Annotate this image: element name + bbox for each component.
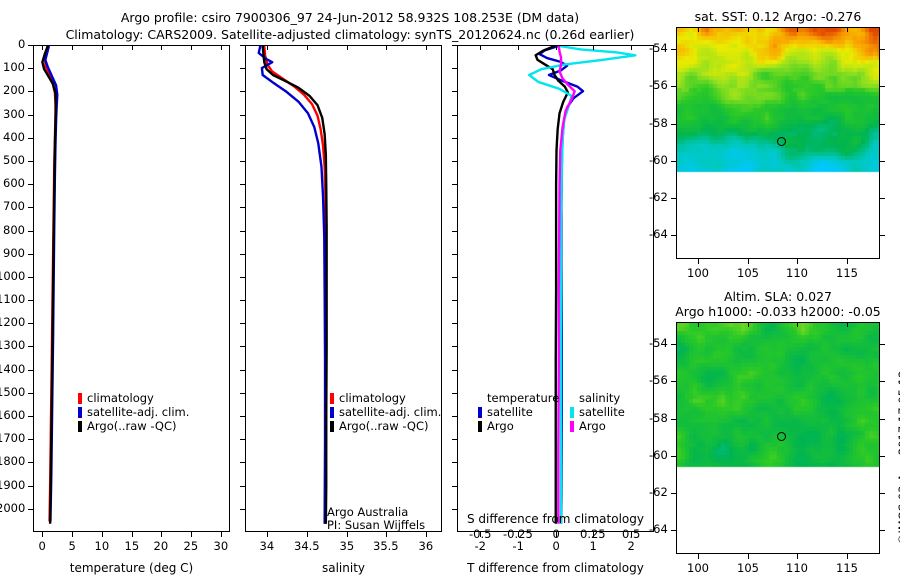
tick-mark xyxy=(191,532,192,537)
xaxis-tick-label-bottom: 0 xyxy=(553,539,560,553)
tick-mark xyxy=(240,393,245,394)
tick-mark xyxy=(307,45,308,50)
tick-mark xyxy=(240,161,245,162)
tick-mark xyxy=(797,322,798,327)
xaxis-tick-label: 10 xyxy=(95,539,110,553)
tick-mark xyxy=(240,115,245,116)
tick-mark xyxy=(240,462,245,463)
tick-mark xyxy=(28,393,33,394)
tick-mark xyxy=(797,259,798,264)
tick-mark xyxy=(847,27,848,32)
tick-mark xyxy=(221,45,222,50)
profile-line xyxy=(536,46,568,524)
tick-mark xyxy=(671,161,676,162)
tick-mark xyxy=(240,439,245,440)
map-xaxis-tick-label: 115 xyxy=(836,561,858,575)
tick-mark xyxy=(671,419,676,420)
tick-mark xyxy=(452,486,457,487)
temperature-legend: climatology satellite-adj. clim. Argo(..… xyxy=(78,391,189,433)
map-yaxis-tick-label: -62 xyxy=(649,190,668,204)
yaxis-tick-label: 1600 xyxy=(0,408,25,422)
xaxis-tick-label-bottom: -1 xyxy=(513,539,524,553)
tick-mark xyxy=(240,416,245,417)
map-sla-panel xyxy=(676,322,880,554)
legend-swatch-temp-argo xyxy=(478,421,482,432)
tick-mark xyxy=(240,323,245,324)
map-yaxis-tick-label: -62 xyxy=(649,485,668,499)
tick-mark xyxy=(880,161,885,162)
tick-mark xyxy=(28,68,33,69)
legend-item: Argo xyxy=(478,419,559,433)
xaxis-tick-label: 5 xyxy=(69,539,76,553)
tick-mark xyxy=(880,493,885,494)
map-sst-title: sat. SST: 0.12 Argo: -0.276 xyxy=(676,9,880,24)
yaxis-tick-label: 200 xyxy=(3,83,25,97)
tick-mark xyxy=(240,277,245,278)
tick-mark xyxy=(452,254,457,255)
tick-mark xyxy=(102,532,103,537)
legend-label: Argo(..raw -QC) xyxy=(339,419,429,433)
xaxis-tick-label-bottom: -2 xyxy=(475,539,486,553)
legend-label: Argo xyxy=(579,419,606,433)
tick-mark xyxy=(880,456,885,457)
yaxis-tick-label: 100 xyxy=(3,60,25,74)
tick-mark xyxy=(671,493,676,494)
legend-item: satellite-adj. clim. xyxy=(330,405,441,419)
tick-mark xyxy=(671,49,676,50)
legend-swatch-temp-satellite xyxy=(478,407,482,418)
tick-mark xyxy=(671,381,676,382)
legend-header: salinity xyxy=(570,391,625,405)
xaxis-tick-label: 25 xyxy=(184,539,199,553)
tick-mark xyxy=(480,45,481,50)
yaxis-tick-label: 1400 xyxy=(0,362,25,376)
yaxis-tick-label: 800 xyxy=(3,223,25,237)
legend-item: satellite xyxy=(478,405,559,419)
tick-mark xyxy=(240,486,245,487)
difference-legend-salinity: salinity satellite Argo xyxy=(570,391,625,433)
tick-mark xyxy=(452,346,457,347)
map-yaxis-tick-label: -56 xyxy=(649,373,668,387)
yaxis-tick-label: 1100 xyxy=(0,292,25,306)
xaxis-tick-label-top: 0.5 xyxy=(622,527,640,541)
tick-mark xyxy=(748,322,749,327)
legend-swatch-satellite-adj xyxy=(78,407,82,418)
legend-label: climatology xyxy=(339,391,406,405)
tick-mark xyxy=(880,344,885,345)
tick-mark xyxy=(748,554,749,559)
tick-mark xyxy=(161,532,162,537)
tick-mark xyxy=(426,45,427,50)
tick-mark xyxy=(847,322,848,327)
tick-mark xyxy=(240,91,245,92)
legend-label: Argo xyxy=(487,419,514,433)
tick-mark xyxy=(698,554,699,559)
tick-mark xyxy=(880,419,885,420)
tick-mark xyxy=(452,231,457,232)
tick-mark xyxy=(671,235,676,236)
tick-mark xyxy=(698,259,699,264)
figure-root: Argo profile: csiro 7900306_97 24-Jun-20… xyxy=(0,0,900,580)
legend-header-label: temperature xyxy=(487,391,559,405)
yaxis-tick-label: 1700 xyxy=(0,431,25,445)
tick-mark xyxy=(28,277,33,278)
salinity-profile-plot xyxy=(246,46,442,532)
legend-swatch-climatology xyxy=(78,393,82,404)
difference-panel xyxy=(457,45,654,532)
tick-mark xyxy=(671,530,676,531)
xaxis-tick-label-top: -0.5 xyxy=(469,527,491,541)
tick-mark xyxy=(240,254,245,255)
tick-mark xyxy=(102,45,103,50)
legend-label: climatology xyxy=(87,391,154,405)
tick-mark xyxy=(698,322,699,327)
map-yaxis-tick-label: -58 xyxy=(649,116,668,130)
tick-mark xyxy=(28,254,33,255)
map-sla-profile-marker xyxy=(777,432,786,441)
yaxis-tick-label: 1500 xyxy=(0,385,25,399)
salinity-legend: climatology satellite-adj. clim. Argo(..… xyxy=(330,391,441,433)
tick-mark xyxy=(880,198,885,199)
tick-mark xyxy=(240,138,245,139)
legend-label: satellite xyxy=(487,405,533,419)
xaxis-tick-label: 15 xyxy=(125,539,140,553)
tick-mark xyxy=(28,439,33,440)
tick-mark xyxy=(452,184,457,185)
xaxis-tick-label: 34.5 xyxy=(294,539,320,553)
temperature-xaxis-label: temperature (deg C) xyxy=(33,561,230,575)
tick-mark xyxy=(72,532,73,537)
xaxis-tick-label: 35.5 xyxy=(373,539,399,553)
tick-mark xyxy=(452,416,457,417)
difference-profile-plot xyxy=(458,46,654,532)
legend-header-label: salinity xyxy=(579,391,620,405)
yaxis-tick-label: 1900 xyxy=(0,478,25,492)
yaxis-tick-label: 900 xyxy=(3,246,25,260)
tick-mark xyxy=(631,45,632,50)
map-yaxis-tick-label: -60 xyxy=(649,448,668,462)
yaxis-tick-label: 300 xyxy=(3,107,25,121)
legend-item: Argo(..raw -QC) xyxy=(78,419,189,433)
tick-mark xyxy=(671,86,676,87)
tick-mark xyxy=(880,49,885,50)
tick-mark xyxy=(452,45,457,46)
xaxis-tick-label-top: -0.25 xyxy=(503,527,533,541)
legend-item: satellite-adj. clim. xyxy=(78,405,189,419)
tick-mark xyxy=(880,381,885,382)
tick-mark xyxy=(28,346,33,347)
tick-mark xyxy=(240,370,245,371)
tick-mark xyxy=(28,138,33,139)
xaxis-tick-label: 35 xyxy=(340,539,355,553)
legend-swatch-sal-satellite xyxy=(570,407,574,418)
map-yaxis-tick-label: -60 xyxy=(649,153,668,167)
tick-mark xyxy=(671,198,676,199)
tick-mark xyxy=(452,68,457,69)
map-yaxis-tick-label: -54 xyxy=(649,336,668,350)
yaxis-tick-label: 1000 xyxy=(0,269,25,283)
tick-mark xyxy=(347,532,348,537)
tick-mark xyxy=(452,300,457,301)
yaxis-tick-label: 1200 xyxy=(0,315,25,329)
credit-pi: PI: Susan Wijffels xyxy=(327,518,425,532)
legend-label: satellite-adj. clim. xyxy=(339,405,441,419)
legend-header: temperature xyxy=(478,391,559,405)
map-sla-title-line2: Argo h1000: -0.033 h2000: -0.05 xyxy=(660,304,896,319)
tick-mark xyxy=(240,346,245,347)
tick-mark xyxy=(847,554,848,559)
tick-mark xyxy=(880,235,885,236)
map-xaxis-tick-label: 110 xyxy=(786,266,808,280)
legend-label: Argo(..raw -QC) xyxy=(87,419,177,433)
tick-mark xyxy=(28,115,33,116)
tick-mark xyxy=(880,124,885,125)
tick-mark xyxy=(28,462,33,463)
xaxis-tick-label-bottom: 1 xyxy=(590,539,597,553)
map-xaxis-tick-label: 100 xyxy=(687,266,709,280)
tick-mark xyxy=(28,161,33,162)
credit-organisation: Argo Australia xyxy=(327,505,408,519)
profile-line xyxy=(529,46,635,524)
tick-mark xyxy=(28,486,33,487)
tick-mark xyxy=(748,27,749,32)
tick-mark xyxy=(518,45,519,50)
legend-item: climatology xyxy=(330,391,441,405)
tick-mark xyxy=(240,68,245,69)
map-xaxis-tick-label: 100 xyxy=(687,561,709,575)
map-sla-title-line1: Altim. SLA: 0.027 xyxy=(676,289,880,304)
profile-line xyxy=(264,46,326,524)
difference-bottom-xaxis-label: T difference from climatology xyxy=(452,561,659,575)
tick-mark xyxy=(28,91,33,92)
tick-mark xyxy=(42,532,43,537)
yaxis-tick-label: 1800 xyxy=(0,454,25,468)
tick-mark xyxy=(671,344,676,345)
tick-mark xyxy=(847,259,848,264)
tick-mark xyxy=(240,207,245,208)
tick-mark xyxy=(347,45,348,50)
tick-mark xyxy=(452,393,457,394)
legend-swatch-sal-argo xyxy=(570,421,574,432)
yaxis-tick-label: 2000 xyxy=(0,501,25,515)
tick-mark xyxy=(386,45,387,50)
xaxis-tick-label-bottom: 2 xyxy=(628,539,635,553)
yaxis-tick-label: 700 xyxy=(3,199,25,213)
tick-mark xyxy=(386,532,387,537)
legend-swatch-satellite-adj xyxy=(330,407,334,418)
yaxis-tick-label: 600 xyxy=(3,176,25,190)
tick-mark xyxy=(28,323,33,324)
tick-mark xyxy=(240,45,245,46)
salinity-xaxis-label: salinity xyxy=(245,561,442,575)
tick-mark xyxy=(452,91,457,92)
tick-mark xyxy=(452,509,457,510)
tick-mark xyxy=(240,231,245,232)
tick-mark xyxy=(240,509,245,510)
figure-title-line2: Climatology: CARS2009. Satellite-adjuste… xyxy=(0,27,700,42)
legend-swatch-climatology xyxy=(330,393,334,404)
tick-mark xyxy=(28,207,33,208)
map-yaxis-tick-label: -64 xyxy=(649,522,668,536)
tick-mark xyxy=(307,532,308,537)
salinity-panel xyxy=(245,45,442,532)
xaxis-tick-label: 36 xyxy=(419,539,434,553)
xaxis-tick-label: 0 xyxy=(39,539,46,553)
legend-item: satellite xyxy=(570,405,625,419)
map-xaxis-tick-label: 105 xyxy=(737,266,759,280)
difference-legend-temperature: temperature satellite Argo xyxy=(478,391,559,433)
map-xaxis-tick-label: 115 xyxy=(836,266,858,280)
xaxis-tick-label: 30 xyxy=(214,539,229,553)
tick-mark xyxy=(797,554,798,559)
tick-mark xyxy=(671,124,676,125)
tick-mark xyxy=(797,27,798,32)
tick-mark xyxy=(452,462,457,463)
yaxis-tick-label: 1300 xyxy=(0,338,25,352)
tick-mark xyxy=(28,184,33,185)
map-sst-panel xyxy=(676,27,880,259)
legend-item: Argo(..raw -QC) xyxy=(330,419,441,433)
tick-mark xyxy=(267,532,268,537)
map-yaxis-tick-label: -58 xyxy=(649,411,668,425)
profile-line xyxy=(42,46,55,524)
legend-item: Argo xyxy=(570,419,625,433)
tick-mark xyxy=(671,456,676,457)
tick-mark xyxy=(28,45,33,46)
tick-mark xyxy=(452,370,457,371)
tick-mark xyxy=(880,86,885,87)
xaxis-tick-label: 34 xyxy=(260,539,275,553)
tick-mark xyxy=(267,45,268,50)
tick-mark xyxy=(426,532,427,537)
yaxis-tick-label: 0 xyxy=(18,37,25,51)
legend-swatch-argo xyxy=(78,421,82,432)
map-xaxis-tick-label: 105 xyxy=(737,561,759,575)
imos-watermark: ©IMOS 03-Aug-2017 17:05:12 xyxy=(896,370,900,545)
tick-mark xyxy=(240,300,245,301)
tick-mark xyxy=(452,439,457,440)
tick-mark xyxy=(452,207,457,208)
tick-mark xyxy=(28,370,33,371)
map-xaxis-tick-label: 110 xyxy=(786,561,808,575)
map-yaxis-tick-label: -64 xyxy=(649,227,668,241)
xaxis-tick-label-top: 0.25 xyxy=(580,527,606,541)
tick-mark xyxy=(42,45,43,50)
profile-line xyxy=(259,46,325,524)
tick-mark xyxy=(748,259,749,264)
tick-mark xyxy=(72,45,73,50)
tick-mark xyxy=(240,184,245,185)
tick-mark xyxy=(452,323,457,324)
legend-label: satellite-adj. clim. xyxy=(87,405,189,419)
legend-label: satellite xyxy=(579,405,625,419)
tick-mark xyxy=(191,45,192,50)
xaxis-tick-label-top: 0 xyxy=(553,527,560,541)
map-sst-profile-marker xyxy=(777,137,786,146)
tick-mark xyxy=(28,416,33,417)
difference-top-xaxis-label: S difference from climatology xyxy=(457,512,654,526)
yaxis-tick-label: 500 xyxy=(3,153,25,167)
legend-item: climatology xyxy=(78,391,189,405)
tick-mark xyxy=(452,115,457,116)
tick-mark xyxy=(28,231,33,232)
map-yaxis-tick-label: -54 xyxy=(649,41,668,55)
legend-swatch-argo xyxy=(330,421,334,432)
xaxis-tick-label: 20 xyxy=(154,539,169,553)
tick-mark xyxy=(593,45,594,50)
tick-mark xyxy=(132,532,133,537)
tick-mark xyxy=(221,532,222,537)
tick-mark xyxy=(28,509,33,510)
temperature-profile-plot xyxy=(34,46,230,532)
tick-mark xyxy=(452,277,457,278)
tick-mark xyxy=(132,45,133,50)
tick-mark xyxy=(161,45,162,50)
tick-mark xyxy=(880,530,885,531)
tick-mark xyxy=(28,300,33,301)
tick-mark xyxy=(452,161,457,162)
map-yaxis-tick-label: -56 xyxy=(649,78,668,92)
tick-mark xyxy=(698,27,699,32)
tick-mark xyxy=(452,138,457,139)
yaxis-tick-label: 400 xyxy=(3,130,25,144)
temperature-panel xyxy=(33,45,230,532)
figure-title-line1: Argo profile: csiro 7900306_97 24-Jun-20… xyxy=(0,10,700,25)
tick-mark xyxy=(556,45,557,50)
